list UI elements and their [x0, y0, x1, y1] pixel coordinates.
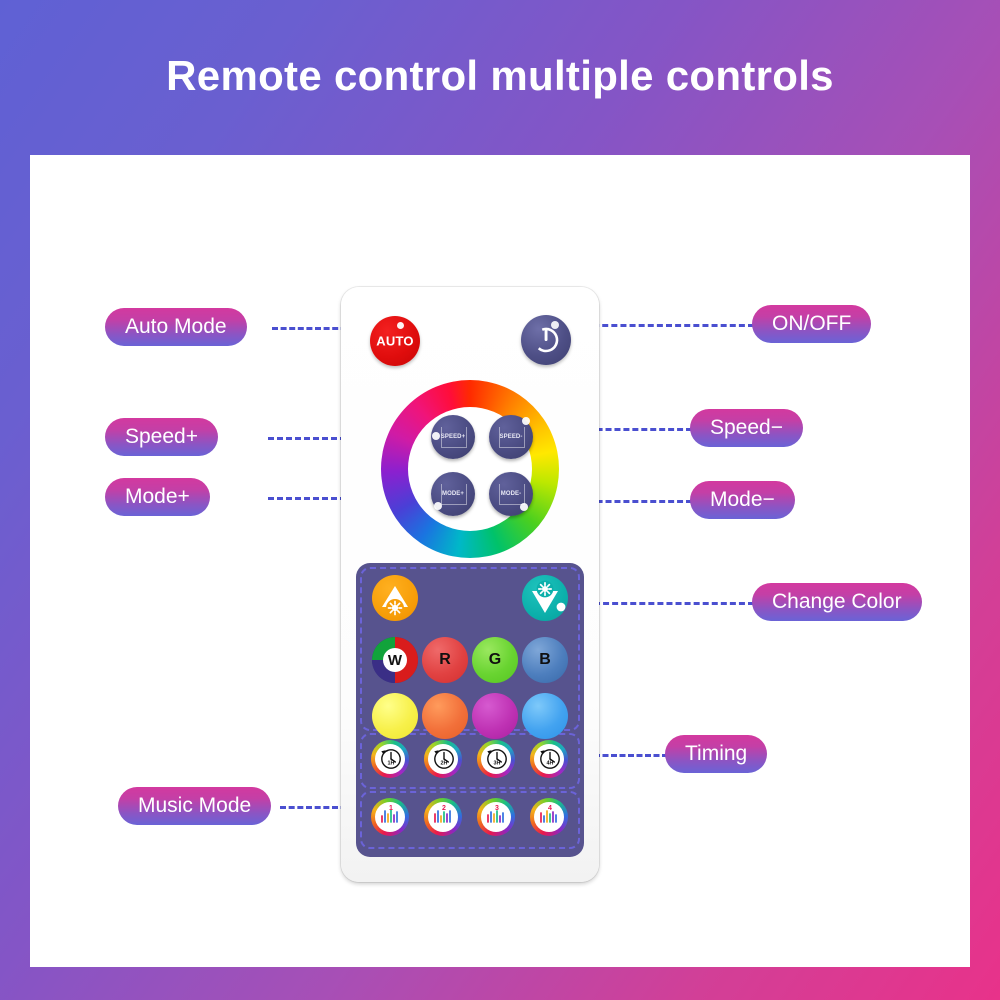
callout-mode-plus[interactable]: Mode+ — [105, 478, 210, 516]
button-highlight — [520, 503, 528, 511]
brightness-down-button[interactable] — [522, 575, 568, 621]
brightness-down-icon — [522, 575, 568, 621]
poster-canvas: Remote control multiple controls Auto Mo… — [0, 0, 1000, 1000]
callout-speed-minus[interactable]: Speed− — [690, 409, 803, 447]
auto-button-label: AUTO — [370, 334, 420, 349]
music-mode-4-button[interactable]: 4 — [530, 798, 568, 836]
button-highlight — [522, 417, 530, 425]
mode-plus-label: MODE+ — [431, 491, 475, 497]
connector-on-off — [584, 324, 754, 327]
yellow-color-button[interactable] — [372, 693, 418, 739]
speed-plus-button[interactable]: SPEED+ — [431, 415, 475, 459]
svg-text:3: 3 — [495, 805, 499, 812]
blue-color-label: B — [522, 651, 568, 669]
blue-color-button[interactable]: B — [522, 637, 568, 683]
timing-1h-button[interactable]: 1H — [371, 740, 409, 778]
mode-minus-label: MODE- — [489, 491, 533, 497]
callout-music-mode[interactable]: Music Mode — [118, 787, 271, 825]
svg-text:1: 1 — [389, 805, 393, 812]
callout-change-color[interactable]: Change Color — [752, 583, 922, 621]
callout-auto-mode[interactable]: Auto Mode — [105, 308, 247, 346]
equalizer-icon: 3 — [481, 802, 511, 832]
magenta-color-button[interactable] — [472, 693, 518, 739]
blue-light-color-button[interactable] — [522, 693, 568, 739]
timing-3h-button[interactable]: 3H — [477, 740, 515, 778]
auto-button[interactable]: AUTO — [370, 316, 420, 366]
orange-color-button[interactable] — [422, 693, 468, 739]
remote-control-body: AUTO SPEED+ SPEED- MODE+ — [341, 287, 599, 882]
callout-mode-minus[interactable]: Mode− — [690, 481, 795, 519]
clock-icon: 4H — [534, 744, 564, 774]
green-color-button[interactable]: G — [472, 637, 518, 683]
equalizer-icon: 2 — [428, 802, 458, 832]
music-mode-2-button[interactable]: 2 — [424, 798, 462, 836]
callout-timing[interactable]: Timing — [665, 735, 767, 773]
speed-minus-button[interactable]: SPEED- — [489, 415, 533, 459]
equalizer-icon: 4 — [534, 802, 564, 832]
connector-change-color — [594, 602, 754, 605]
equalizer-icon: 1 — [375, 802, 405, 832]
mode-minus-button[interactable]: MODE- — [489, 472, 533, 516]
svg-text:2: 2 — [442, 805, 446, 812]
timing-4h-button[interactable]: 4H — [530, 740, 568, 778]
color-wheel[interactable] — [381, 380, 559, 558]
music-mode-1-button[interactable]: 1 — [371, 798, 409, 836]
brightness-up-button[interactable] — [372, 575, 418, 621]
green-color-label: G — [472, 651, 518, 669]
power-button[interactable] — [521, 315, 571, 365]
music-mode-3-button[interactable]: 3 — [477, 798, 515, 836]
clock-icon: 3H — [481, 744, 511, 774]
svg-text:3H: 3H — [494, 760, 501, 766]
red-color-button[interactable]: R — [422, 637, 468, 683]
button-highlight — [434, 502, 442, 510]
page-title: Remote control multiple controls — [0, 52, 1000, 100]
clock-icon: 2H — [428, 744, 458, 774]
svg-text:2H: 2H — [441, 760, 448, 766]
clock-icon: 1H — [375, 744, 405, 774]
red-color-label: R — [422, 651, 468, 669]
brightness-up-icon — [372, 575, 418, 621]
callout-on-off[interactable]: ON/OFF — [752, 305, 871, 343]
timing-2h-button[interactable]: 2H — [424, 740, 462, 778]
svg-text:1H: 1H — [388, 760, 395, 766]
svg-text:4H: 4H — [547, 760, 554, 766]
white-color-label: W — [383, 648, 407, 672]
power-icon — [532, 326, 560, 354]
speed-plus-label: SPEED+ — [431, 434, 475, 440]
callout-speed-plus[interactable]: Speed+ — [105, 418, 218, 456]
white-color-button[interactable]: W — [372, 637, 418, 683]
auto-button-highlight — [397, 322, 404, 329]
svg-text:4: 4 — [548, 805, 552, 812]
speed-minus-label: SPEED- — [489, 434, 533, 440]
mode-plus-button[interactable]: MODE+ — [431, 472, 475, 516]
keypad-panel: W R G B — [356, 563, 584, 857]
connector-timing — [594, 754, 668, 757]
